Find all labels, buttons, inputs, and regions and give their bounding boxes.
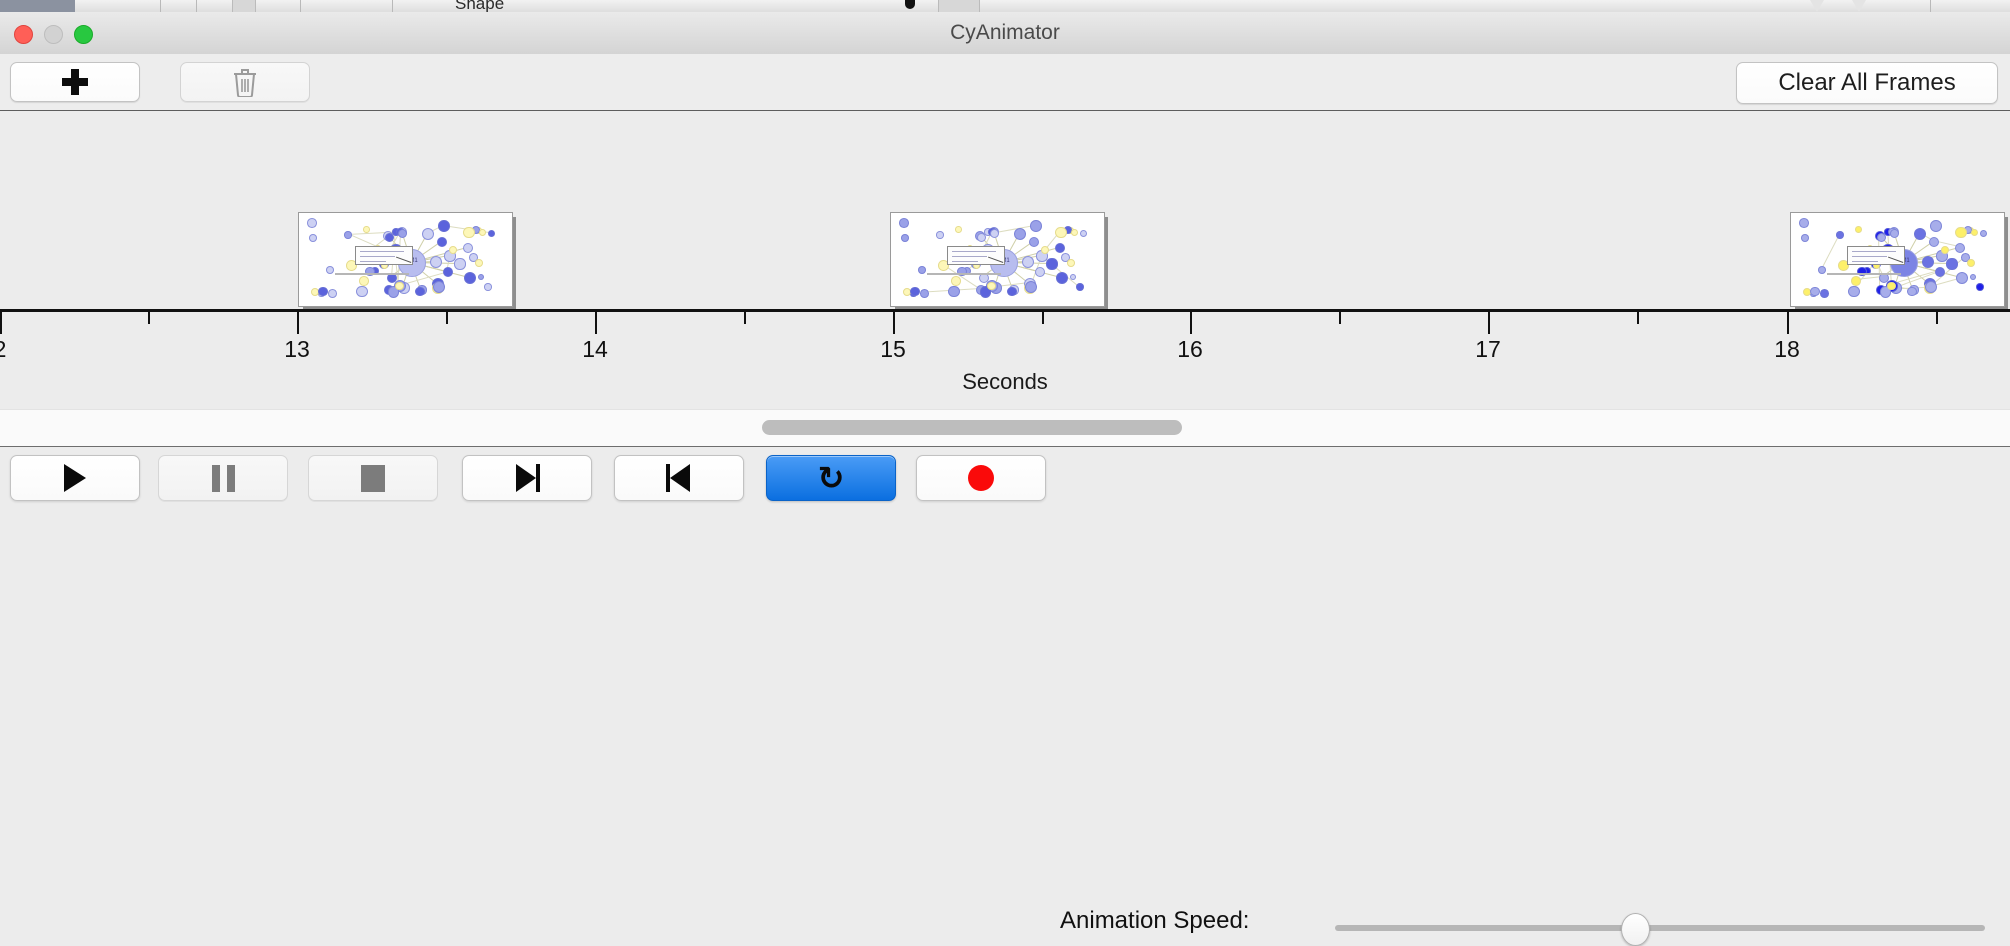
- play-icon: [64, 464, 86, 492]
- record-icon: [968, 465, 994, 491]
- clear-all-frames-label: Clear All Frames: [1778, 69, 1955, 97]
- transport-bar: ↻ Animation Speed:: [0, 447, 2010, 510]
- network-annotation-box: [355, 246, 413, 265]
- plus-icon: [62, 69, 88, 95]
- record-button[interactable]: [916, 455, 1046, 501]
- timeline-frame-thumbnail[interactable]: MCM1: [890, 212, 1108, 310]
- skip-to-start-button[interactable]: [462, 455, 592, 501]
- animation-speed-label: Animation Speed:: [1060, 907, 1249, 935]
- axis-tick-minor: [1042, 312, 1044, 324]
- scrollbar-thumb[interactable]: [762, 420, 1182, 435]
- axis-line: [0, 309, 2010, 312]
- network-graph: MCM1: [1791, 213, 2004, 306]
- loop-icon: ↻: [818, 462, 845, 494]
- axis-tick-label: 18: [1774, 336, 1800, 363]
- timeline-frame-canvas[interactable]: MCM1MCM1MCM1: [0, 111, 2010, 309]
- stop-icon: [361, 465, 385, 492]
- axis-tick-major: [1787, 312, 1789, 334]
- axis-tick-label: 16: [1177, 336, 1203, 363]
- clear-all-frames-button[interactable]: Clear All Frames: [1736, 62, 1998, 104]
- axis-tick-major: [893, 312, 895, 334]
- timeline-frame-thumbnail[interactable]: MCM1: [1790, 212, 2008, 310]
- cyanimator-window: Shape CyAnimator Clear All Frame: [0, 0, 2010, 510]
- trash-icon: [232, 67, 258, 97]
- skip-back-icon: [514, 464, 540, 492]
- axis-tick-minor: [1936, 312, 1938, 324]
- network-annotation-box: [1847, 246, 1905, 265]
- axis-tick-minor: [446, 312, 448, 324]
- axis-tick-major: [0, 312, 2, 334]
- animation-speed-slider[interactable]: [1335, 925, 1985, 931]
- axis-tick-major: [297, 312, 299, 334]
- timeline-axis: 2131415161718 Seconds: [0, 309, 2010, 409]
- axis-tick-major: [1190, 312, 1192, 334]
- frame-toolbar: Clear All Frames: [0, 54, 2010, 111]
- axis-title: Seconds: [0, 369, 2010, 395]
- axis-tick-minor: [148, 312, 150, 324]
- axis-tick-minor: [1637, 312, 1639, 324]
- delete-frame-button[interactable]: [180, 62, 310, 102]
- axis-tick-label: 13: [284, 336, 310, 363]
- skip-to-end-button[interactable]: [614, 455, 744, 501]
- window-title: CyAnimator: [0, 12, 2010, 54]
- title-bar: CyAnimator: [0, 12, 2010, 55]
- axis-tick-major: [1488, 312, 1490, 334]
- axis-tick-label: 14: [582, 336, 608, 363]
- axis-tick-major: [595, 312, 597, 334]
- add-frame-button[interactable]: [10, 62, 140, 102]
- loop-button[interactable]: ↻: [766, 455, 896, 501]
- network-annotation-box: [947, 246, 1005, 265]
- background-window-label: Shape: [455, 0, 504, 12]
- stop-button[interactable]: [308, 455, 438, 501]
- axis-tick-minor: [1339, 312, 1341, 324]
- horizontal-scrollbar[interactable]: [0, 409, 2010, 448]
- axis-tick-label: 15: [880, 336, 906, 363]
- animation-speed-slider-thumb[interactable]: [1621, 913, 1650, 946]
- axis-tick-label: 2: [0, 336, 6, 363]
- axis-tick-label: 17: [1475, 336, 1501, 363]
- axis-tick-minor: [744, 312, 746, 324]
- timeline-frame-thumbnail[interactable]: MCM1: [298, 212, 516, 310]
- play-button[interactable]: [10, 455, 140, 501]
- network-graph: MCM1: [891, 213, 1104, 306]
- skip-forward-icon: [666, 464, 692, 492]
- pause-icon: [212, 465, 235, 492]
- background-window-strip: Shape: [0, 0, 2010, 12]
- pause-button[interactable]: [158, 455, 288, 501]
- network-graph: MCM1: [299, 213, 512, 306]
